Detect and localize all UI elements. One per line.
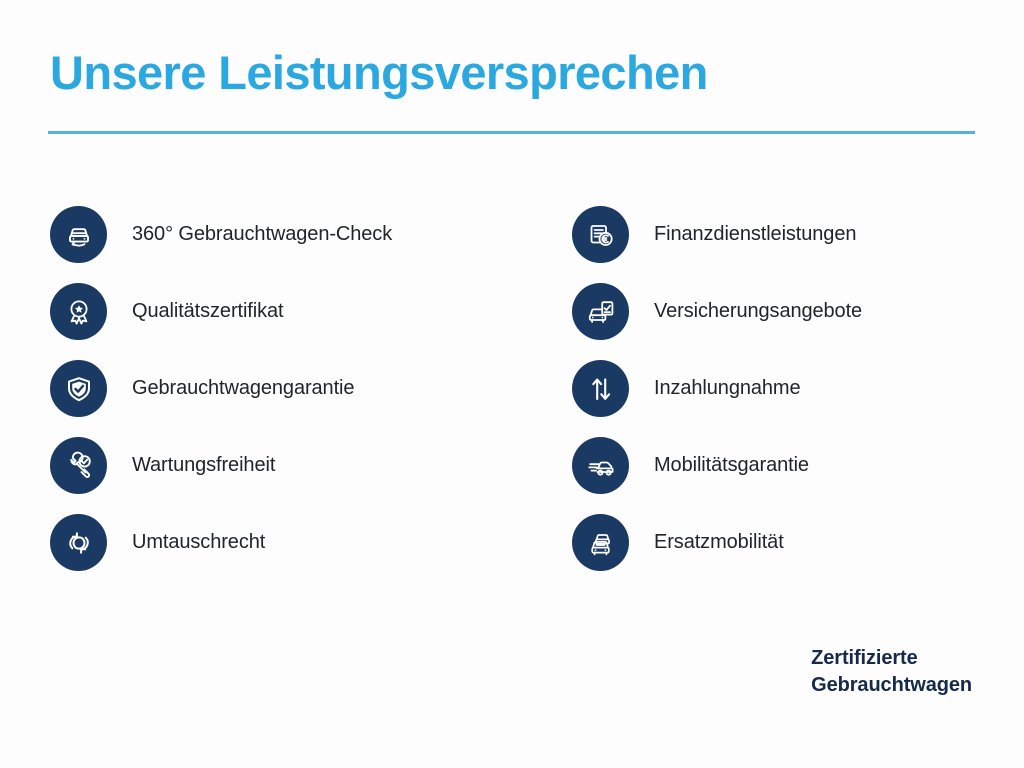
car-motion-icon	[572, 437, 629, 494]
feature-label: Qualitätszertifikat	[132, 300, 284, 323]
feature-item[interactable]: Inzahlungnahme	[572, 350, 1012, 427]
feature-label: Inzahlungnahme	[654, 377, 801, 400]
header: Unsere Leistungsversprechen	[50, 48, 976, 99]
car-360-check-icon	[50, 206, 107, 263]
feature-item[interactable]: Finanzdienstleistungen	[572, 196, 1012, 273]
feature-label: Mobilitätsgarantie	[654, 454, 809, 477]
feature-label: Finanzdienstleistungen	[654, 223, 856, 246]
header-divider	[48, 131, 975, 134]
up-down-arrows-icon	[572, 360, 629, 417]
slide-root: Unsere Leistungsversprechen 3	[0, 0, 1024, 768]
money-coins-euro-icon	[572, 206, 629, 263]
features-column-right: Finanzdienstleistungen	[572, 196, 1012, 581]
feature-label: Gebrauchtwagengarantie	[132, 377, 354, 400]
feature-item[interactable]: 360° Gebrauchtwagen-Check	[50, 196, 490, 273]
exchange-arrows-icon	[50, 514, 107, 571]
feature-item[interactable]: Wartungsfreiheit	[50, 427, 490, 504]
feature-label: 360° Gebrauchtwagen-Check	[132, 223, 392, 246]
feature-item[interactable]: Qualitätszertifikat	[50, 273, 490, 350]
car-document-check-icon	[572, 283, 629, 340]
two-cars-icon	[572, 514, 629, 571]
features-column-left: 360° Gebrauchtwagen-Check Qualitätszerti…	[50, 196, 490, 581]
feature-item[interactable]: Umtauschrecht	[50, 504, 490, 581]
footer-certified-label: Zertifizierte Gebrauchtwagen	[811, 645, 972, 699]
feature-label: Umtauschrecht	[132, 531, 265, 554]
shield-check-icon	[50, 360, 107, 417]
feature-item[interactable]: Gebrauchtwagengarantie	[50, 350, 490, 427]
footer-line-1: Zertifizierte	[811, 645, 972, 672]
feature-item[interactable]: Mobilitätsgarantie	[572, 427, 1012, 504]
feature-label: Wartungsfreiheit	[132, 454, 275, 477]
footer-line-2: Gebrauchtwagen	[811, 672, 972, 699]
feature-label: Versicherungsangebote	[654, 300, 862, 323]
feature-item[interactable]: Versicherungsangebote	[572, 273, 1012, 350]
page-title: Unsere Leistungsversprechen	[50, 48, 976, 99]
feature-label: Ersatzmobilität	[654, 531, 784, 554]
award-rosette-icon	[50, 283, 107, 340]
feature-item[interactable]: Ersatzmobilität	[572, 504, 1012, 581]
wrench-check-icon	[50, 437, 107, 494]
